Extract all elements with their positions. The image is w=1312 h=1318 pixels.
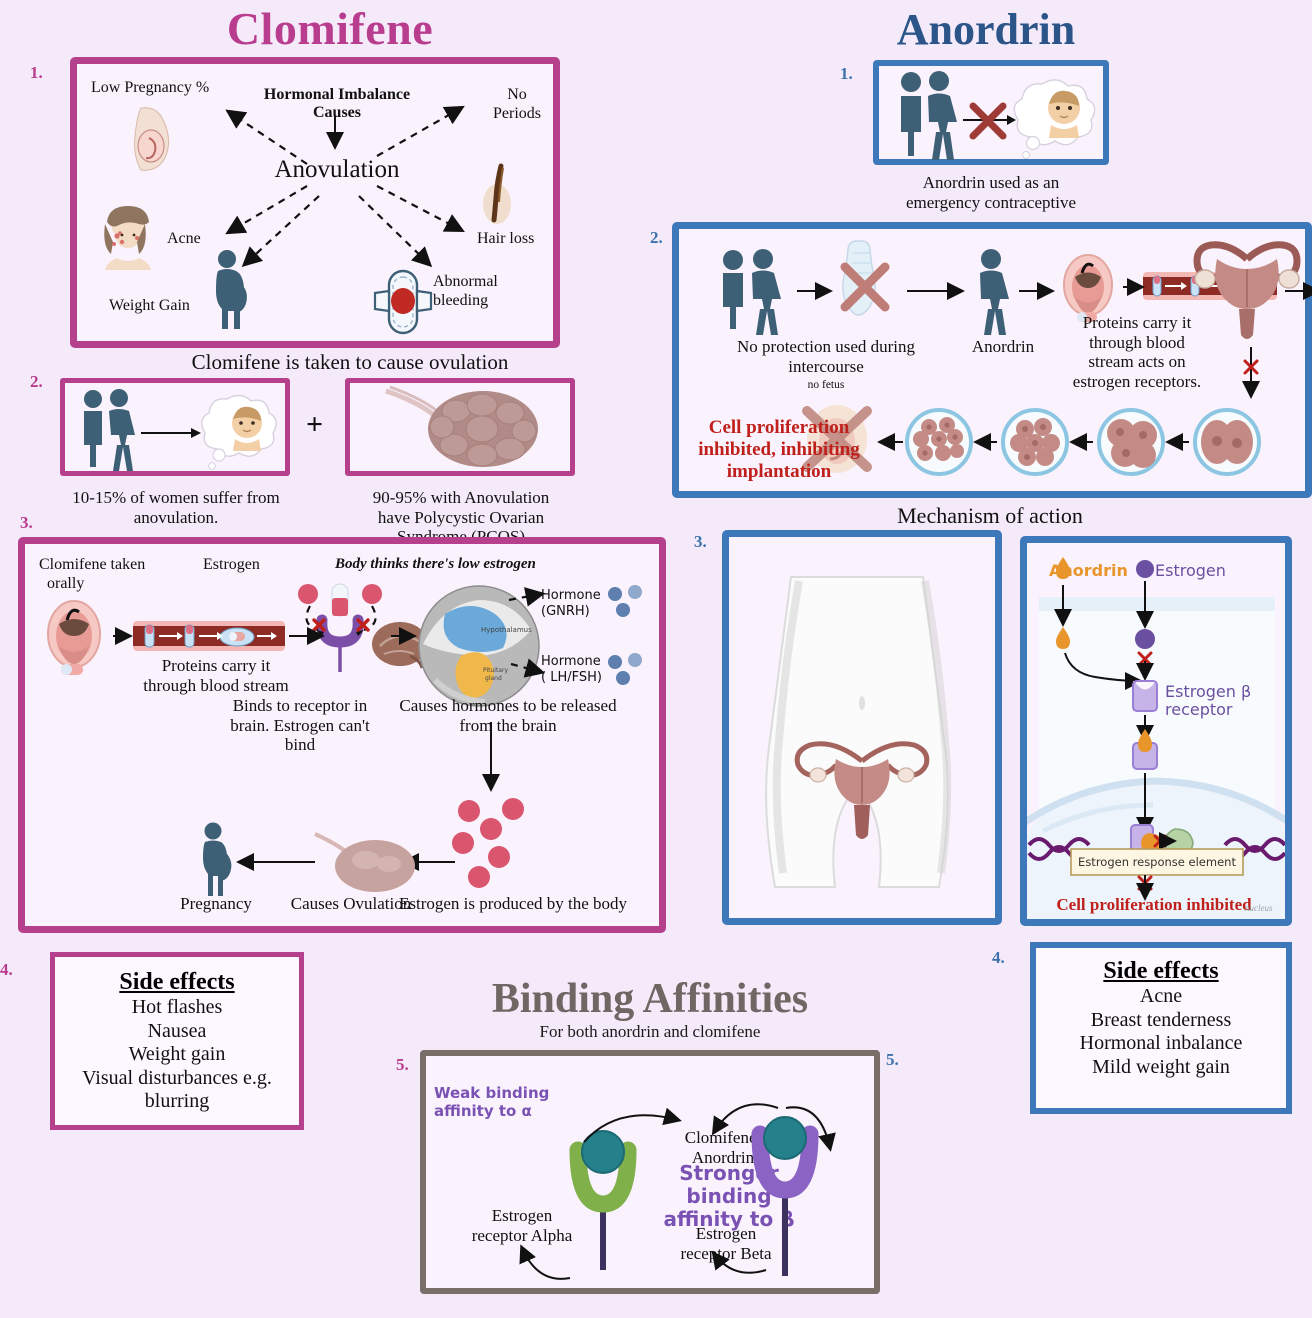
anordrin-step2-panel: No protection used during intercourse no… (672, 222, 1312, 498)
clomifene-step2-left-caption: 10-15% of women suffer from anovulation. (45, 488, 307, 527)
label-proteins-bloodstream-clomifene: Proteins carry it through blood stream (121, 656, 311, 695)
clomifene-step3-number: 3. (20, 513, 33, 533)
clomifene-step1-number: 1. (30, 63, 43, 83)
female-reproductive-anatomy-icon (747, 567, 977, 897)
clomifene-step4-number: 4. (0, 960, 13, 980)
anordrin-step4-number: 4. (992, 948, 1005, 968)
estrogen-molecules-icon (453, 799, 537, 889)
anordrin-side-effects-panel: Side effects Acne Breast tenderness Horm… (1030, 942, 1292, 1114)
label-estrogen-beta-receptor: Estrogen β receptor (1165, 683, 1251, 720)
side-effect-item: Breast tenderness (1036, 1009, 1286, 1033)
anordrin-anatomy-panel (722, 530, 1002, 925)
label-estrogen-response-element: Estrogen response element (1073, 855, 1241, 869)
couple-baby-thought-icon (67, 385, 285, 471)
pregnancy-figure-icon (193, 822, 235, 898)
anordrin-step1-caption: Anordrin used as an emergency contracept… (873, 173, 1109, 212)
clomifene-step2-right-panel (345, 378, 575, 476)
anordrin-step3-number: 3. (694, 532, 707, 552)
anordrin-step1-panel (873, 60, 1109, 165)
clomifene-side-effects-title: Side effects (55, 969, 299, 996)
page-title-anordrin: Anordrin (660, 4, 1312, 55)
side-effect-item: Nausea (55, 1020, 299, 1044)
label-causes-hormones-released: Causes hormones to be released from the … (393, 696, 623, 735)
label-cell-proliferation-inhibited: Cell proliferation inhibited (1029, 895, 1279, 915)
side-effect-item: Visual disturbances e.g. (55, 1067, 299, 1091)
side-effect-item: Weight gain (55, 1043, 299, 1067)
binding-affinities-subtitle: For both anordrin and clomifene (400, 1022, 900, 1042)
clomifene-step1-caption: Clomifene is taken to cause ovulation (70, 350, 630, 375)
anordrin-step2-arrows (679, 229, 1312, 505)
side-effect-item: Hot flashes (55, 996, 299, 1020)
binding-number-right: 5. (886, 1050, 899, 1070)
clomifene-step2-number: 2. (30, 372, 43, 392)
plus-sign: + (306, 408, 323, 442)
mechanism-of-action-heading: Mechanism of action (800, 503, 1180, 529)
clomifene-step3-panel: Clomifene taken orally Estrogen Body thi… (18, 537, 666, 933)
anovulation-arrow-group (77, 64, 567, 355)
polycystic-ovary-icon (378, 383, 548, 471)
anordrin-step2-number: 2. (650, 228, 663, 248)
clomifene-step1-panel: Low Pregnancy % Hormonal Imbalance Cause… (70, 57, 560, 348)
clomifene-side-effects-panel: Side effects Hot flashes Nausea Weight g… (50, 952, 304, 1130)
binding-arrows (426, 1056, 886, 1300)
label-causes-ovulation: Causes Ovulation (271, 894, 431, 914)
clomifene-step2-left-panel (60, 378, 290, 476)
ovary-icon (311, 828, 421, 896)
side-effect-item: Mild weight gain (1036, 1056, 1286, 1080)
page-title-clomifene: Clomifene (0, 2, 660, 55)
side-effect-item: Hormonal inbalance (1036, 1032, 1286, 1056)
anordrin-side-effects-title: Side effects (1036, 958, 1286, 985)
label-binds-receptor: Binds to receptor in brain. Estrogen can… (215, 696, 385, 755)
anordrin-step1-number: 1. (840, 64, 853, 84)
binding-affinities-panel: Weak binding affinity to α Clomifene/ An… (420, 1050, 880, 1294)
binding-affinities-title: Binding Affinities (400, 975, 900, 1023)
label-pregnancy: Pregnancy (161, 894, 271, 914)
binding-number-left: 5. (396, 1055, 409, 1075)
label-nucleus: nucleus (1245, 903, 1273, 913)
side-effect-item: Acne (1036, 985, 1286, 1009)
side-effect-item: blurring (55, 1090, 299, 1114)
anordrin-receptor-panel: Anordrin Estrogen (1020, 536, 1292, 926)
couple-no-baby-icon (879, 66, 1103, 159)
